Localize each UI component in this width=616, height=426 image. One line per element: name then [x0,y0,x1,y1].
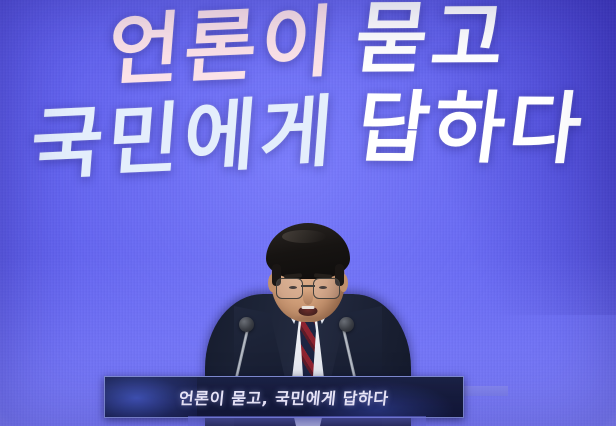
speaker-head [271,230,345,322]
speaker-figure: 언론이 묻고, 국민에게 답하다 [0,166,616,426]
nose [303,290,313,305]
lectern-sign-text: 언론이 묻고, 국민에게 답하다 [104,385,464,409]
chin-shadow [293,314,323,322]
lectern-sign-panel: 언론이 묻고, 국민에게 답하다 [104,376,464,418]
microphone-head-left [239,317,254,332]
eyeglass-lens-left [276,278,303,299]
eyeglass-lens-right [313,278,340,299]
press-conference-photo: 언론이묻고 국민에게답하다 [0,0,616,426]
teeth [302,306,315,309]
lectern-base [188,416,426,426]
microphone-head-right [339,317,354,332]
eyeglass-bridge [301,285,315,287]
